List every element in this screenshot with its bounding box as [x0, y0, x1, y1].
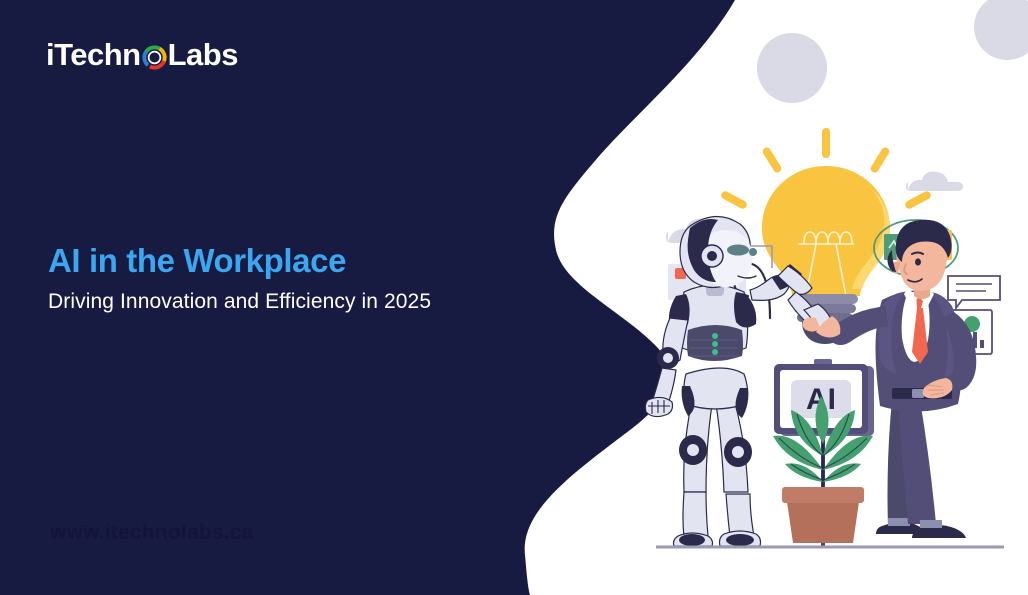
website-url[interactable]: www.itechnolabs.ca — [50, 521, 254, 545]
robot-left-hand — [645, 397, 672, 416]
brand-name-part2: Labs — [168, 39, 238, 70]
brand-name-part1: iTechn — [46, 39, 141, 70]
brand-logo[interactable]: iTechn Labs — [46, 34, 238, 74]
cloud-shape — [906, 172, 963, 191]
page-subtitle: Driving Innovation and Efficiency in 202… — [48, 288, 508, 316]
marketing-banner: iTechn Labs AI in the Workplace Driving … — [0, 0, 1028, 595]
speech-bubble-icon — [948, 276, 1000, 308]
hero-copy-block: AI in the Workplace Driving Innovation a… — [48, 243, 508, 316]
brand-ring-icon — [142, 45, 167, 70]
hero-illustration: AI — [620, 0, 1028, 595]
page-title: AI in the Workplace — [48, 243, 508, 280]
